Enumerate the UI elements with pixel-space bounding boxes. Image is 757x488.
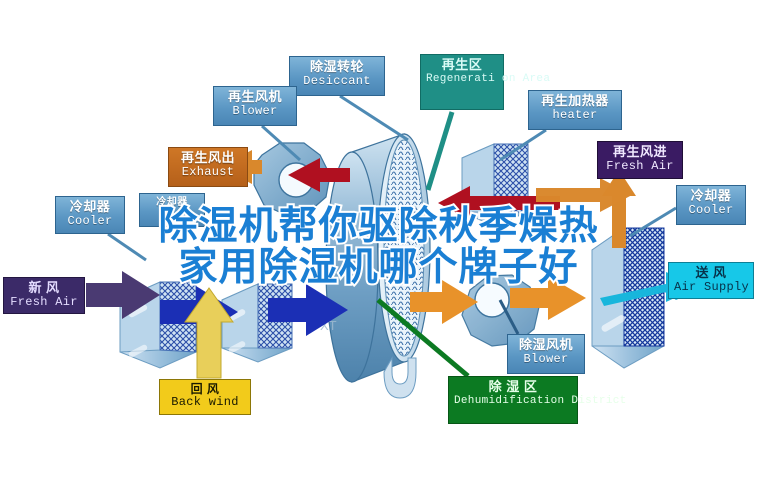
callout-regen-heater: 再生加热器heater [528,90,622,130]
callout-regen-area-cn: 再生区 [426,58,498,73]
diagram-canvas: XT [0,0,757,488]
callout-desiccant-wheel-cn: 除湿转轮 [295,60,379,75]
callout-dehum-district-cn: 除 湿 区 [454,380,572,395]
callout-dehum-district: 除 湿 区Dehumidification District [448,376,578,424]
callout-dehum-blower: 除湿风机Blower [507,334,585,374]
leader-cooler-left [108,234,146,260]
callout-fresh-air-in: 新 风Fresh Air [3,277,85,314]
callout-cooler-left-cn: 冷却器 [61,200,119,215]
callout-desiccant-wheel-en: Desiccant [295,75,379,88]
callout-regen-blower-en: Blower [219,105,291,118]
callout-dehum-district-en: Dehumidification District [454,395,572,407]
callout-desiccant-wheel: 除湿转轮Desiccant [289,56,385,96]
callout-regen-exhaust-cn: 再生风出 [174,151,242,166]
regeneration-heater [462,144,528,226]
callout-regen-exhaust: 再生风出Exhaust [168,147,248,187]
callout-regen-exhaust-en: Exhaust [174,166,242,179]
callout-cooler-right-en: Cooler [682,204,740,217]
callout-dehum-blower-cn: 除湿风机 [513,338,579,353]
callout-back-wind-cn: 回 风 [165,383,245,396]
callout-regen-blower: 再生风机Blower [213,86,297,126]
callout-back-wind: 回 风Back wind [159,379,251,415]
callout-air-supply-cn: 送 风 [674,266,748,281]
callout-cooler-mid: 冷却器 [139,193,205,227]
callout-regen-fresh-air: 再生风进Fresh Air [597,141,683,179]
callout-cooler-mid-cn: 冷却器 [145,197,199,208]
callout-cooler-right-cn: 冷却器 [682,189,740,204]
callout-regen-fresh-air-en: Fresh Air [603,160,677,173]
callout-regen-heater-cn: 再生加热器 [534,94,616,109]
callout-fresh-air-in-en: Fresh Air [9,296,79,309]
callout-dehum-blower-en: Blower [513,353,579,366]
callout-cooler-left: 冷却器Cooler [55,196,125,234]
callout-regen-area: 再生区Regenerati on Area [420,54,504,110]
callout-regen-blower-cn: 再生风机 [219,90,291,105]
callout-regen-area-en: Regenerati on Area [426,73,498,85]
callout-air-supply: 送 风Air Supply [668,262,754,299]
leader-regen-area [428,112,452,190]
callout-regen-heater-en: heater [534,109,616,122]
callout-back-wind-en: Back wind [165,396,245,409]
callout-cooler-right: 冷却器Cooler [676,185,746,225]
callout-cooler-left-en: Cooler [61,215,119,228]
leader-desiccant [340,96,408,140]
callout-regen-fresh-air-cn: 再生风进 [603,145,677,160]
callout-fresh-air-in-cn: 新 风 [9,281,79,296]
inlet-duct-mid [222,284,292,362]
callout-air-supply-en: Air Supply [674,281,748,294]
